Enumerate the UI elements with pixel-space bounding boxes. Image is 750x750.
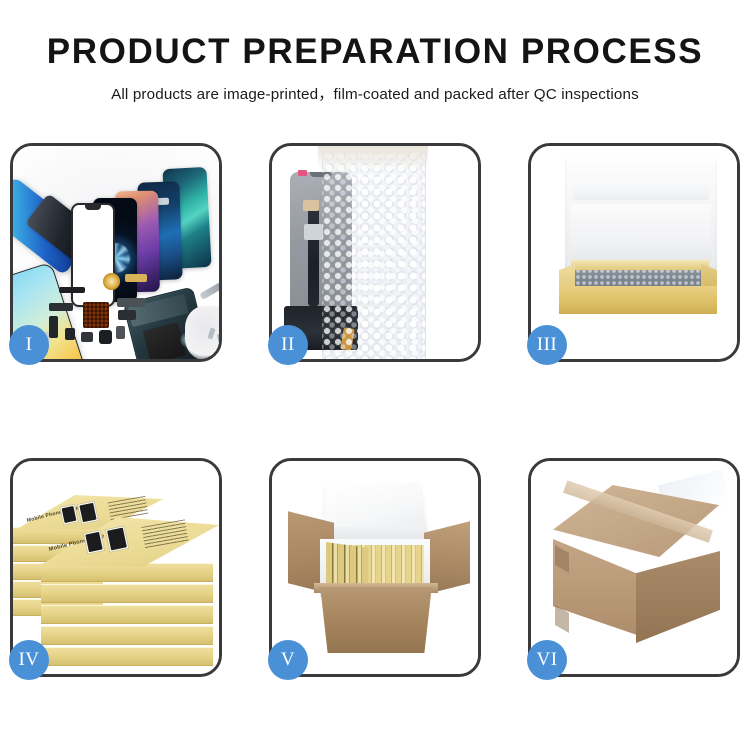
sealed-carton-right-face-icon — [636, 551, 720, 643]
copper-coil-part-icon — [103, 273, 120, 290]
step-badge-5: V — [268, 640, 308, 680]
foam-sheet-icon — [571, 204, 711, 266]
stacked-box-side-f4 — [41, 626, 213, 645]
bag-top-sheen-icon — [318, 146, 428, 170]
step-badge-4: IV — [9, 640, 49, 680]
process-step-grid: I II III — [10, 143, 741, 677]
small-component-3-icon — [99, 330, 112, 344]
page-title: PRODUCT PREPARATION PROCESS — [0, 34, 750, 71]
small-component-1-icon — [65, 328, 75, 340]
pink-qc-sticker-icon — [298, 170, 307, 176]
flex-cable-part-1-icon — [49, 303, 73, 311]
small-component-2-icon — [81, 332, 93, 342]
flex-cable-part-3-icon — [117, 298, 145, 307]
page-header: PRODUCT PREPARATION PROCESS All products… — [0, 0, 750, 104]
small-component-4-icon — [116, 326, 125, 339]
chip-grid-part-icon — [83, 302, 109, 328]
driver-ic-icon — [304, 224, 323, 240]
process-step-panel-1: I — [10, 143, 222, 362]
box-inner-lip-icon — [571, 260, 709, 270]
stacked-box-side-f2 — [41, 584, 213, 603]
process-step-panel-3: III — [528, 143, 740, 362]
step-badge-3: III — [527, 325, 567, 365]
step-3-image — [531, 146, 737, 359]
carton-front-icon — [314, 587, 438, 653]
process-step-panel-2: II — [269, 143, 481, 362]
step-badge-6: VI — [527, 640, 567, 680]
speaker-part-icon — [59, 287, 85, 293]
screen-flex-cable-icon — [308, 208, 319, 306]
box-lid-top-icon — [565, 156, 717, 200]
step-badge-2: II — [268, 325, 308, 365]
connector-icon — [303, 200, 319, 211]
process-step-panel-4: Mobile Phone Spare Parts Mobile Phone Sp… — [10, 458, 222, 677]
gold-connector-part-icon — [125, 274, 147, 282]
yellow-box-front-icon — [559, 286, 717, 314]
flex-cable-part-2-icon — [49, 316, 58, 338]
page-subtitle: All products are image-printed，film-coat… — [0, 82, 750, 104]
step-4-image: Mobile Phone Spare Parts Mobile Phone Sp… — [13, 461, 219, 674]
step-6-image — [531, 461, 737, 674]
step-badge-1: I — [9, 325, 49, 365]
process-step-panel-6: VI — [528, 458, 740, 677]
step-5-image — [272, 461, 478, 674]
step-2-image — [272, 146, 478, 359]
bubble-wrap-overlay-icon — [322, 150, 424, 359]
stacked-box-side-f3 — [41, 605, 213, 624]
step-1-image — [13, 146, 219, 359]
stacked-box-side-f5 — [41, 647, 213, 666]
process-step-panel-5: V — [269, 458, 481, 677]
flex-cable-part-4-icon — [118, 310, 136, 320]
